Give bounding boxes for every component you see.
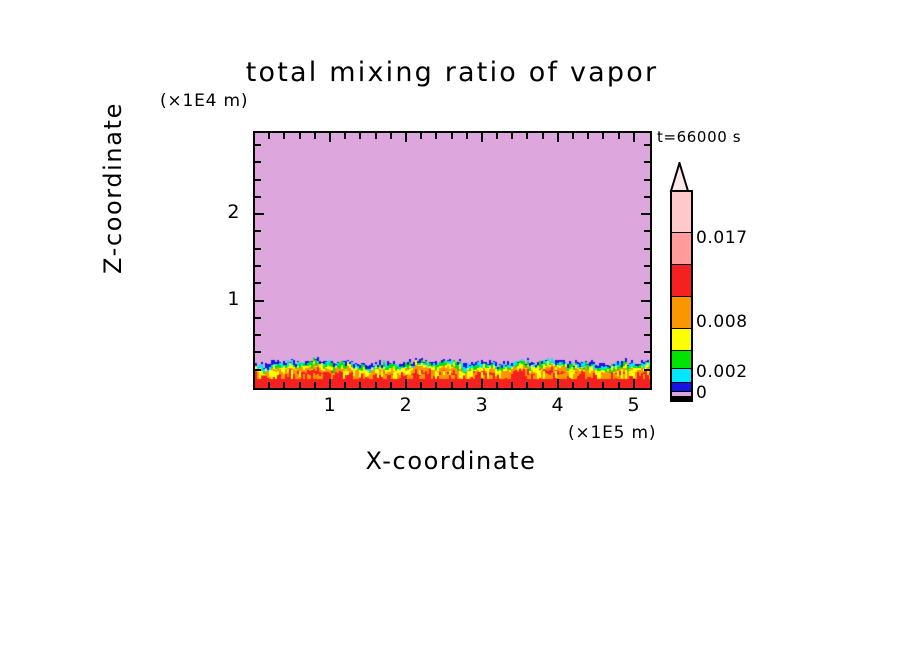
colorbar-segment <box>672 350 691 369</box>
y-tick-right <box>644 282 650 284</box>
x-tick-label: 5 <box>619 394 649 416</box>
x-tick-bottom <box>587 382 589 388</box>
colorbar-arrow-tip <box>668 162 691 192</box>
x-tick-bottom <box>557 379 559 388</box>
x-tick-top <box>451 133 453 139</box>
y-tick-right <box>644 351 650 353</box>
plot-area <box>253 131 652 390</box>
x-tick-top <box>618 133 620 139</box>
x-tick-top <box>390 133 392 139</box>
x-tick-bottom <box>451 382 453 388</box>
x-tick-top <box>633 133 635 142</box>
colorbar-segment <box>672 296 691 329</box>
y-tick-left <box>255 230 261 232</box>
heatmap-canvas <box>255 133 650 388</box>
x-tick-top <box>542 133 544 139</box>
x-tick-top <box>344 133 346 139</box>
y-tick-right <box>644 179 650 181</box>
y-tick-left <box>255 179 261 181</box>
y-axis-unit-label: (×1E4 m) <box>160 91 248 111</box>
x-tick-bottom <box>602 382 604 388</box>
colorbar-segment <box>672 264 691 297</box>
x-tick-bottom <box>375 382 377 388</box>
colorbar-segment <box>672 328 691 351</box>
x-tick-bottom <box>344 382 346 388</box>
x-tick-bottom <box>405 379 407 388</box>
colorbar-segment <box>672 396 691 401</box>
x-tick-top <box>283 133 285 139</box>
x-tick-bottom <box>329 379 331 388</box>
x-tick-bottom <box>299 382 301 388</box>
x-tick-top <box>511 133 513 139</box>
x-tick-bottom <box>511 382 513 388</box>
x-tick-top <box>466 133 468 139</box>
y-tick-label: 1 <box>218 288 240 310</box>
x-tick-bottom <box>572 382 574 388</box>
y-tick-right <box>641 300 650 302</box>
x-tick-top <box>299 133 301 139</box>
y-tick-left <box>255 213 264 215</box>
x-tick-bottom <box>359 382 361 388</box>
x-tick-bottom <box>268 382 270 388</box>
y-tick-right <box>644 230 650 232</box>
x-tick-top <box>435 133 437 139</box>
y-tick-left <box>255 282 261 284</box>
y-tick-left <box>255 161 261 163</box>
x-axis-unit-label: (×1E5 m) <box>568 423 656 443</box>
x-tick-label: 2 <box>391 394 421 416</box>
x-tick-bottom <box>526 382 528 388</box>
x-tick-top <box>405 133 407 142</box>
x-tick-top <box>375 133 377 139</box>
y-tick-left <box>255 248 261 250</box>
y-tick-left <box>255 351 261 353</box>
x-tick-top <box>557 133 559 142</box>
x-tick-bottom <box>314 382 316 388</box>
y-tick-right <box>644 196 650 198</box>
x-tick-bottom <box>466 382 468 388</box>
colorbar-tick-label: 0.002 <box>696 362 748 382</box>
y-tick-left <box>255 369 261 371</box>
y-tick-right <box>644 317 650 319</box>
y-tick-right <box>644 248 650 250</box>
y-tick-left <box>255 317 261 319</box>
x-tick-top <box>314 133 316 139</box>
colorbar-segment <box>672 192 691 232</box>
x-tick-top <box>359 133 361 139</box>
x-tick-label: 1 <box>315 394 345 416</box>
x-tick-bottom <box>633 379 635 388</box>
x-tick-top <box>420 133 422 139</box>
y-tick-right <box>644 144 650 146</box>
x-tick-label: 4 <box>543 394 573 416</box>
y-axis-title: Z-coordinate <box>99 68 127 308</box>
page-title: total mixing ratio of vapor <box>0 57 904 88</box>
y-tick-right <box>644 334 650 336</box>
colorbar <box>670 190 693 402</box>
x-tick-top <box>268 133 270 139</box>
x-tick-bottom <box>435 382 437 388</box>
x-tick-bottom <box>481 379 483 388</box>
x-tick-bottom <box>283 382 285 388</box>
y-tick-label: 2 <box>218 201 240 223</box>
colorbar-tick-label: 0.008 <box>696 312 748 332</box>
time-annotation: t=66000 s <box>657 128 741 146</box>
x-axis-title: X-coordinate <box>253 447 649 475</box>
colorbar-segment <box>672 232 691 265</box>
y-tick-left <box>255 300 264 302</box>
y-tick-left <box>255 265 261 267</box>
x-tick-bottom <box>496 382 498 388</box>
x-tick-bottom <box>542 382 544 388</box>
y-tick-left <box>255 196 261 198</box>
colorbar-segment <box>672 368 691 383</box>
x-tick-top <box>481 133 483 142</box>
x-tick-top <box>526 133 528 139</box>
x-tick-top <box>329 133 331 142</box>
x-tick-top <box>572 133 574 139</box>
x-tick-top <box>602 133 604 139</box>
colorbar-tick-label: 0.017 <box>696 228 748 248</box>
x-tick-top <box>587 133 589 139</box>
x-tick-top <box>496 133 498 139</box>
x-tick-bottom <box>618 382 620 388</box>
y-tick-right <box>644 265 650 267</box>
colorbar-tick-label: 0 <box>696 383 707 403</box>
y-tick-right <box>644 161 650 163</box>
x-tick-label: 3 <box>467 394 497 416</box>
y-tick-right <box>641 213 650 215</box>
x-tick-bottom <box>420 382 422 388</box>
y-tick-left <box>255 334 261 336</box>
x-tick-bottom <box>390 382 392 388</box>
y-tick-right <box>644 369 650 371</box>
y-tick-left <box>255 144 261 146</box>
